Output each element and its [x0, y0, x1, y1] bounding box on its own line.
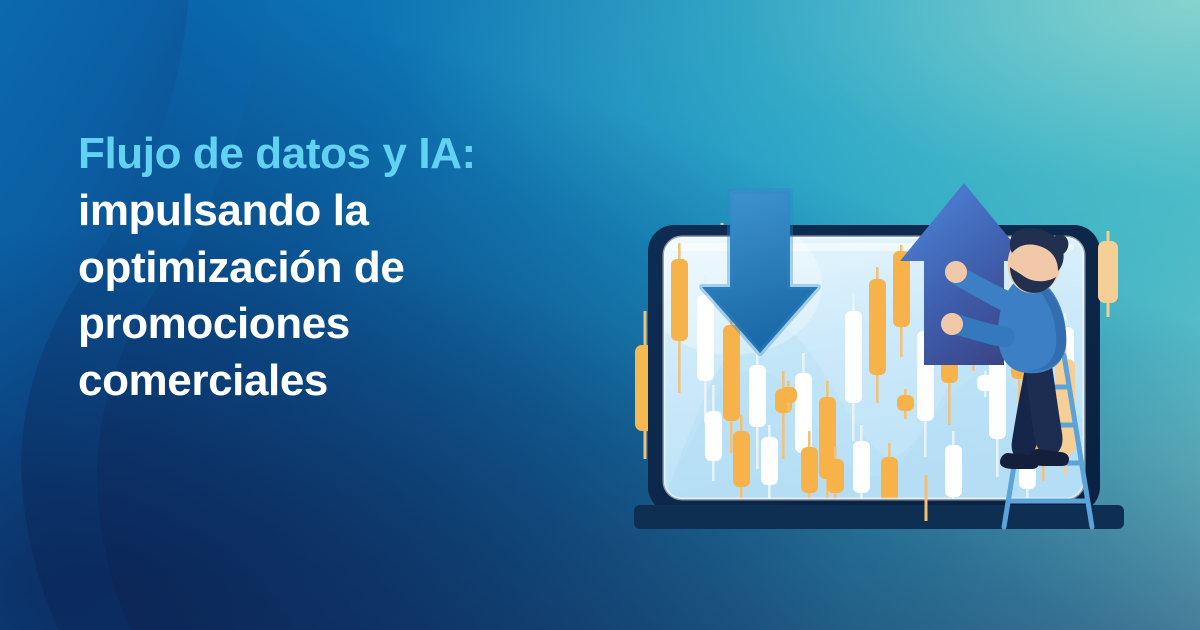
title-line-1: impulsando la: [78, 183, 548, 240]
poster-canvas: Flujo de datos y IA: impulsando la optim…: [0, 0, 1200, 630]
candle-overflow-bottom: [925, 475, 928, 521]
title-line-3: promociones: [78, 296, 548, 353]
title-line-2: optimización de: [78, 240, 548, 297]
illustration-laptop-candlestick-chart: [612, 175, 1200, 545]
laptop-base: [634, 505, 1124, 529]
page-title: Flujo de datos y IA: impulsando la optim…: [78, 126, 548, 410]
candle-out-r2: [1098, 231, 1118, 317]
title-accent-line: Flujo de datos y IA:: [78, 126, 548, 183]
title-line-4: comerciales: [78, 353, 548, 410]
